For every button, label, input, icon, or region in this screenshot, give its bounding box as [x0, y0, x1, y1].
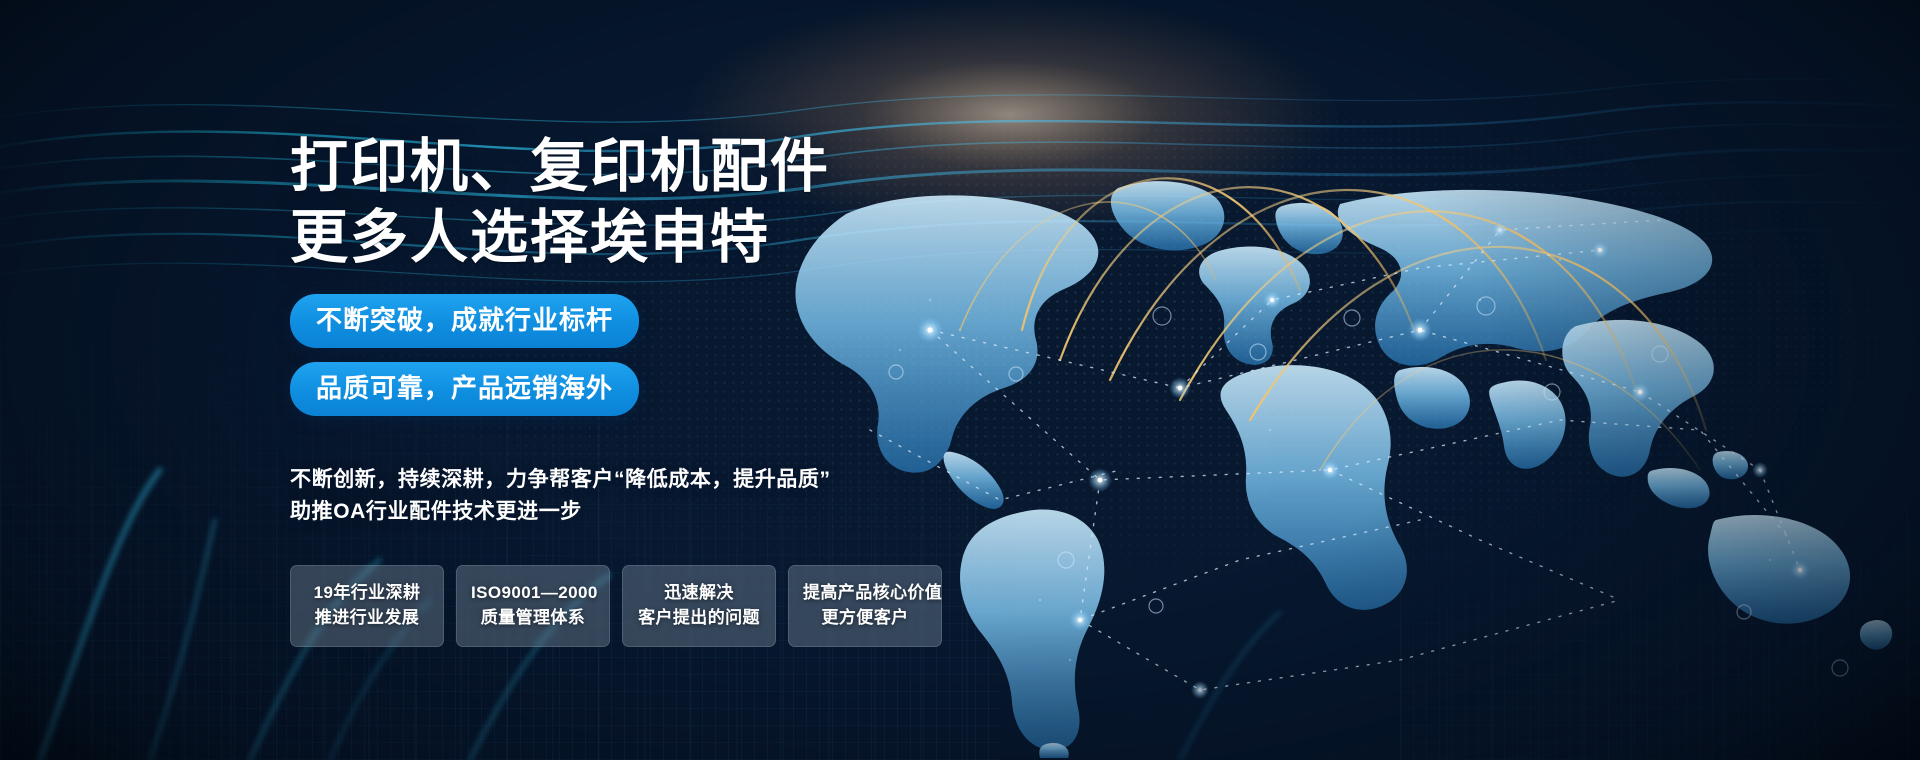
description-line-1: 不断创新，持续深耕，力争帮客户“降低成本，提升品质” — [290, 464, 910, 497]
background-artwork — [0, 0, 1920, 760]
slogan-pill-2[interactable]: 品质可靠，产品远销海外 — [290, 362, 639, 416]
feature-line-1: 迅速解决 — [637, 580, 761, 606]
headline-line-2: 更多人选择埃申特 — [290, 203, 910, 274]
feature-box[interactable]: 提高产品核心价值 更方便客户 — [788, 565, 942, 647]
feature-line-1: 19年行业深耕 — [305, 580, 429, 606]
hero-banner: 打印机、复印机配件 更多人选择埃申特 不断突破，成就行业标杆 品质可靠，产品远销… — [0, 0, 1920, 760]
feature-line-2: 客户提出的问题 — [637, 605, 761, 631]
feature-box[interactable]: ISO9001—2000 质量管理体系 — [456, 565, 610, 647]
feature-line-2: 推进行业发展 — [305, 605, 429, 631]
description-paragraph: 不断创新，持续深耕，力争帮客户“降低成本，提升品质” 助推OA行业配件技术更进一… — [290, 464, 910, 529]
banner-content: 打印机、复印机配件 更多人选择埃申特 不断突破，成就行业标杆 品质可靠，产品远销… — [290, 132, 910, 647]
feature-line-2: 更方便客户 — [803, 605, 927, 631]
slogan-pill-1[interactable]: 不断突破，成就行业标杆 — [290, 294, 639, 348]
feature-line-2: 质量管理体系 — [471, 605, 595, 631]
feature-box[interactable]: 迅速解决 客户提出的问题 — [622, 565, 776, 647]
world-map-graphic — [795, 181, 1892, 758]
page-title: 打印机、复印机配件 更多人选择埃申特 — [290, 132, 910, 274]
feature-box-list: 19年行业深耕 推进行业发展 ISO9001—2000 质量管理体系 迅速解决 … — [290, 565, 910, 647]
slogan-pill-list: 不断突破，成就行业标杆 品质可靠，产品远销海外 — [290, 294, 910, 430]
feature-line-1: 提高产品核心价值 — [803, 580, 927, 606]
feature-box[interactable]: 19年行业深耕 推进行业发展 — [290, 565, 444, 647]
feature-line-1: ISO9001—2000 — [471, 580, 595, 606]
description-line-2: 助推OA行业配件技术更进一步 — [290, 496, 910, 529]
headline-line-1: 打印机、复印机配件 — [290, 132, 910, 203]
